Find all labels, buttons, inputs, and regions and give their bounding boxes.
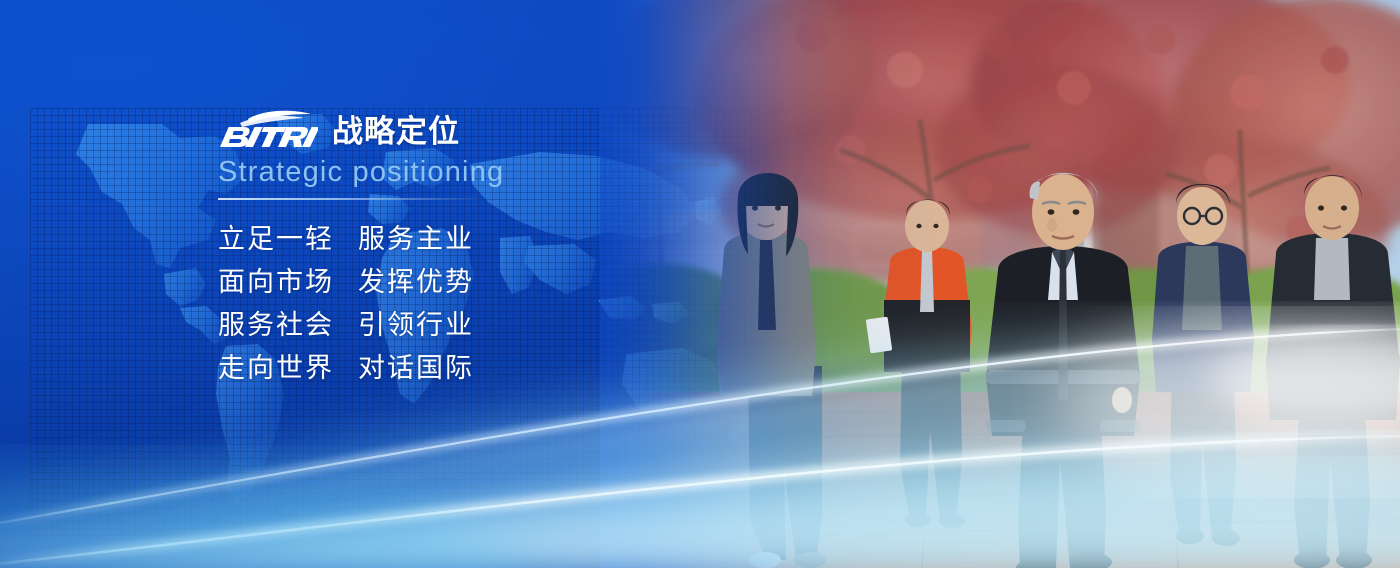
campus-photo: [600, 0, 1400, 568]
slogan-right: 服务主业: [358, 218, 474, 261]
slogan-left: 面向市场: [218, 261, 358, 304]
swoosh-arc-icon: [240, 111, 311, 127]
slogan-right: 对话国际: [358, 347, 474, 390]
slogan-right: 发挥优势: [358, 261, 474, 304]
slogan-row: 走向世界 对话国际: [218, 347, 638, 390]
strategic-positioning-banner: 战略定位 Strategic positioning 立足一轻 服务主业 面向市…: [0, 0, 1400, 568]
page-title-cn: 战略定位: [332, 117, 460, 150]
banner-content: 战略定位 Strategic positioning 立足一轻 服务主业 面向市…: [218, 104, 638, 390]
bitri-logo[interactable]: [218, 108, 318, 150]
slogan-right: 引领行业: [358, 304, 474, 347]
slogan-left: 服务社会: [218, 304, 358, 347]
slogan-left: 立足一轻: [218, 218, 358, 261]
slogan-list: 立足一轻 服务主业 面向市场 发挥优势 服务社会 引领行业 走向世界 对话国际: [218, 218, 638, 390]
slogan-row: 面向市场 发挥优势: [218, 261, 638, 304]
title-row: 战略定位: [218, 104, 638, 150]
slogan-row: 立足一轻 服务主业: [218, 218, 638, 261]
slogan-left: 走向世界: [218, 347, 358, 390]
title-divider: [218, 198, 488, 200]
page-subtitle-en: Strategic positioning: [218, 157, 638, 189]
slogan-row: 服务社会 引领行业: [218, 304, 638, 347]
